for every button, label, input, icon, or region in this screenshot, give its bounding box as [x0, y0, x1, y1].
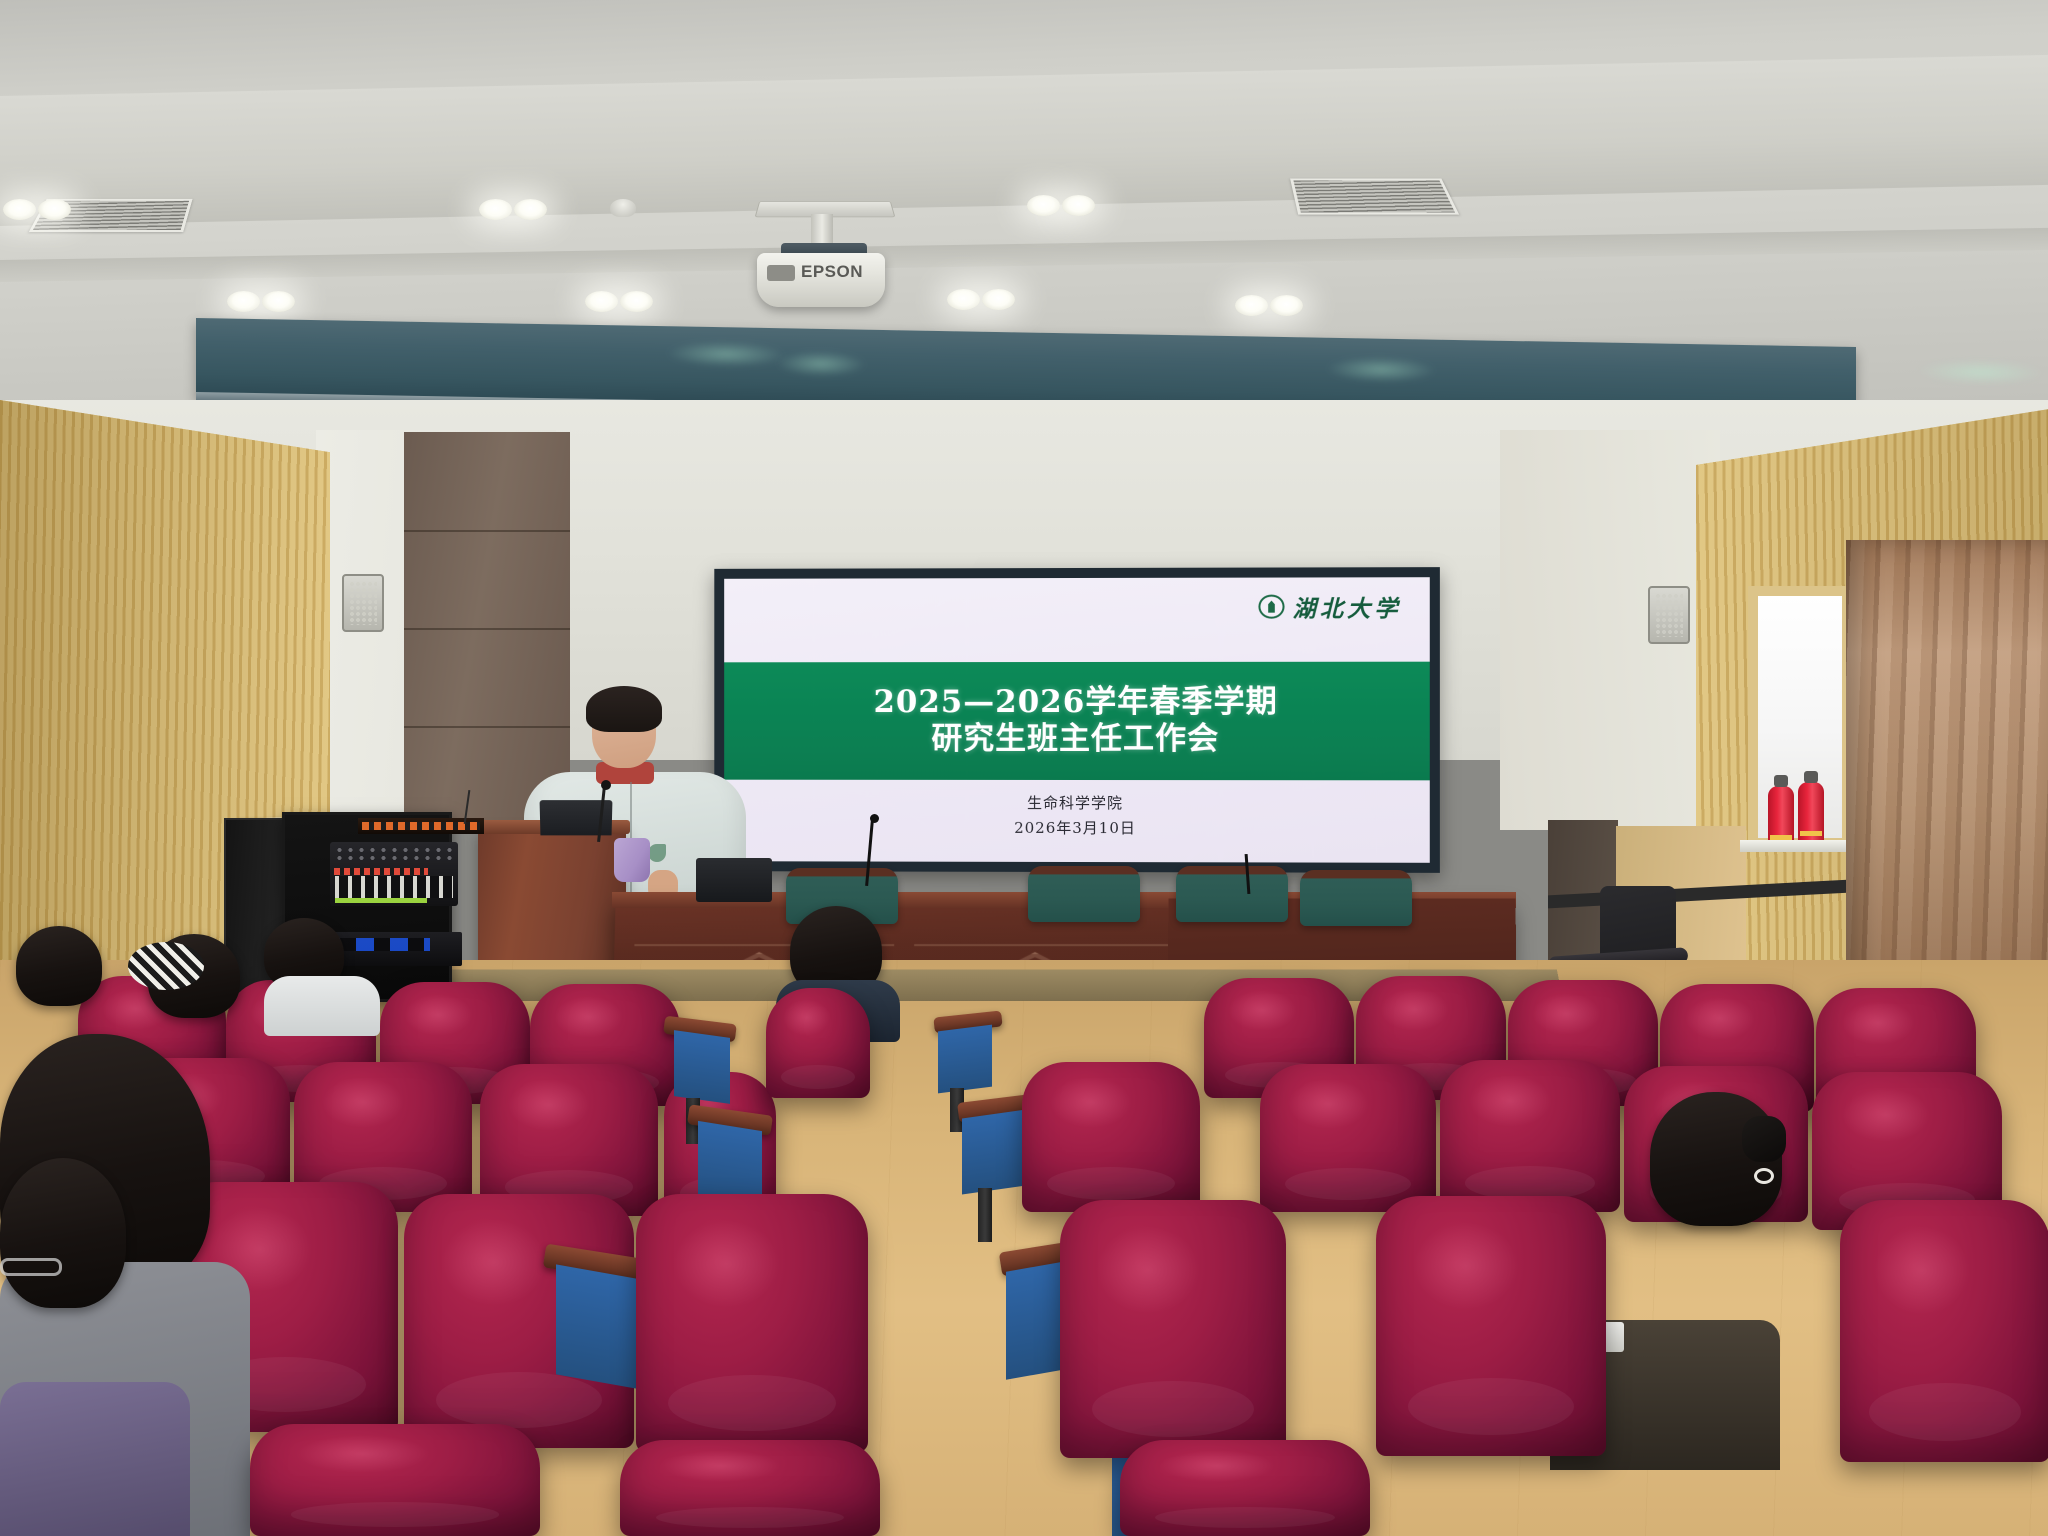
conference-room-photo: EPSON 湖北大学 2025—2026学年春季学期 研究生班主任工: [0, 0, 2048, 1536]
recessed-ceiling-downlight: [1232, 292, 1306, 318]
auditorium-seat[interactable]: [1060, 1200, 1286, 1458]
audience-member-head: [0, 1158, 126, 1308]
fire-extinguisher: [1798, 782, 1824, 846]
ceiling-smoke-detector: [610, 199, 636, 217]
seat-support-leg: [978, 1188, 992, 1242]
seat-arm-panel: [938, 1025, 992, 1094]
recessed-ceiling-downlight: [582, 288, 656, 314]
auditorium-seat[interactable]: [1440, 1060, 1620, 1212]
projection-screen-frame: 湖北大学 2025—2026学年春季学期 研究生班主任工作会 生命科学学院 20…: [714, 567, 1440, 873]
recessed-ceiling-downlight: [1024, 192, 1098, 218]
slide-department: 生命科学学院: [1027, 792, 1123, 813]
conference-chair: [1176, 866, 1288, 922]
auditorium-seat[interactable]: [250, 1424, 540, 1536]
recessed-ceiling-downlight: [0, 196, 74, 222]
auditorium-seat[interactable]: [1376, 1196, 1606, 1456]
seat-arm-panel: [962, 1110, 1026, 1195]
mixer-fader-row[interactable]: [335, 876, 453, 898]
seat-arm-panel: [556, 1264, 642, 1389]
eyeglasses-icon: [0, 1258, 62, 1276]
hair-clip-jewel: [1754, 1168, 1774, 1184]
auditorium-seat[interactable]: [1022, 1062, 1200, 1212]
audience-member-torso: [0, 1382, 190, 1536]
purple-thermos-cup: [614, 838, 650, 882]
auditorium-seat[interactable]: [766, 988, 870, 1098]
presenter-hair: [586, 686, 662, 732]
slide-title-band: 2025—2026学年春季学期 研究生班主任工作会: [724, 662, 1430, 781]
recessed-ceiling-downlight: [944, 286, 1018, 312]
projector-brand-label: EPSON: [801, 262, 863, 282]
hair-scrunchie-accessory: [128, 942, 204, 990]
microphone-capsule-icon: [870, 814, 879, 823]
slide-subtitle-block: 生命科学学院 2026年3月10日: [724, 792, 1430, 839]
seat-arm-panel: [674, 1030, 730, 1104]
window-curtain: [1846, 540, 2048, 990]
audio-mixer-console[interactable]: [330, 842, 458, 906]
slide-title-line-1: 2025—2026学年春季学期: [873, 685, 1277, 720]
wall-mounted-loudspeaker: [342, 574, 384, 632]
hubei-university-crest-icon: [1258, 595, 1284, 619]
recessed-ceiling-downlight: [224, 288, 298, 314]
conference-chair: [1028, 866, 1140, 922]
mixer-led-meter: [334, 868, 428, 875]
slide-date: 2026年3月10日: [1014, 817, 1136, 838]
hair-clip-accessory: [1742, 1116, 1786, 1162]
ceiling-air-vent: [1290, 178, 1459, 214]
auditorium-seat[interactable]: [620, 1440, 880, 1536]
auditorium-seat[interactable]: [1260, 1064, 1436, 1212]
brown-wall-panel: [404, 432, 570, 824]
recessed-ceiling-downlight: [476, 196, 550, 222]
audience-member-head: [16, 926, 102, 1006]
slide-institution-logo: 湖北大学: [1258, 589, 1401, 623]
microphone-capsule-icon: [601, 780, 611, 790]
auditorium-seat[interactable]: [1840, 1200, 2048, 1462]
mixer-level-indicator: [335, 898, 427, 903]
projection-screen: 湖北大学 2025—2026学年春季学期 研究生班主任工作会 生命科学学院 20…: [724, 577, 1430, 863]
mixer-knob-row[interactable]: [334, 846, 454, 862]
presenter-jacket-emblem: [648, 844, 666, 862]
laptop-on-conference-table: [696, 858, 772, 902]
wall-mounted-loudspeaker: [1648, 586, 1690, 644]
conference-chair: [1300, 870, 1412, 926]
slide-title-line-2: 研究生班主任工作会: [931, 722, 1219, 757]
wooden-podium: [478, 828, 626, 970]
projector-lens: [767, 265, 795, 281]
ceiling-projector-icon: EPSON: [757, 253, 885, 307]
window-sill: [1740, 840, 1862, 852]
audience-member-torso: [264, 976, 380, 1036]
auditorium-seat[interactable]: [636, 1194, 868, 1452]
institution-name: 湖北大学: [1293, 589, 1402, 623]
auditorium-seat[interactable]: [1120, 1440, 1370, 1536]
